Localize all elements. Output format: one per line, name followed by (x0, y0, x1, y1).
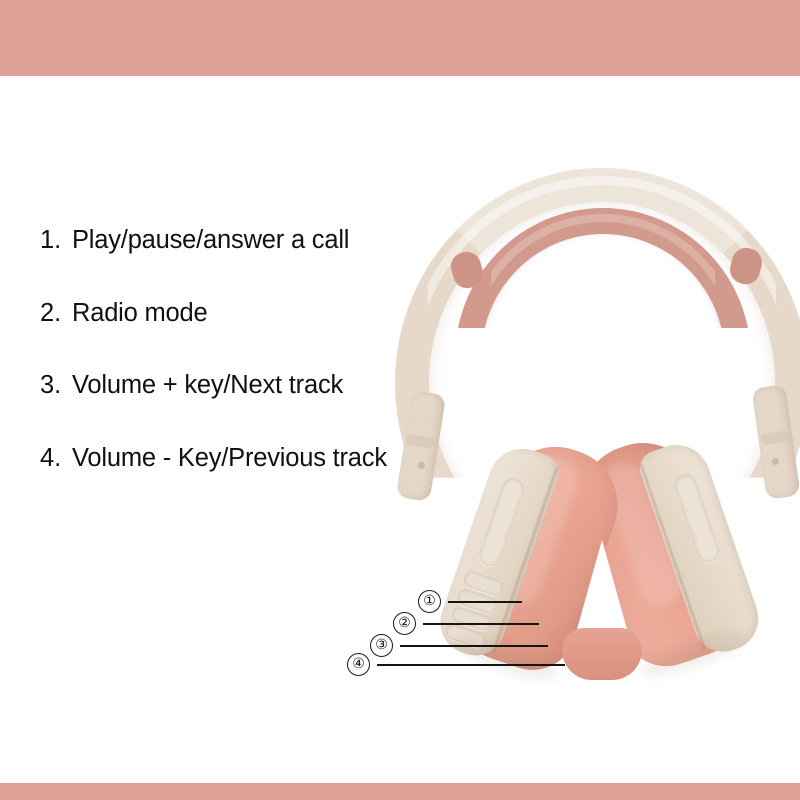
screenshot-canvas: 1. Play/pause/answer a call 2. Radio mod… (0, 0, 800, 800)
callout-1: ① (418, 590, 522, 613)
callout-marker: ④ (347, 653, 370, 676)
callout-4: ④ (347, 653, 565, 676)
callout-marker: ② (393, 612, 416, 635)
callout-leader-line (448, 601, 522, 603)
callout-leader-line (377, 664, 565, 666)
callout-leader-line (423, 623, 539, 625)
callout-leader-line (400, 645, 548, 647)
callout-layer: ① ② ③ ④ (0, 0, 800, 800)
callout-marker: ① (418, 590, 441, 613)
callout-2: ② (393, 612, 539, 635)
